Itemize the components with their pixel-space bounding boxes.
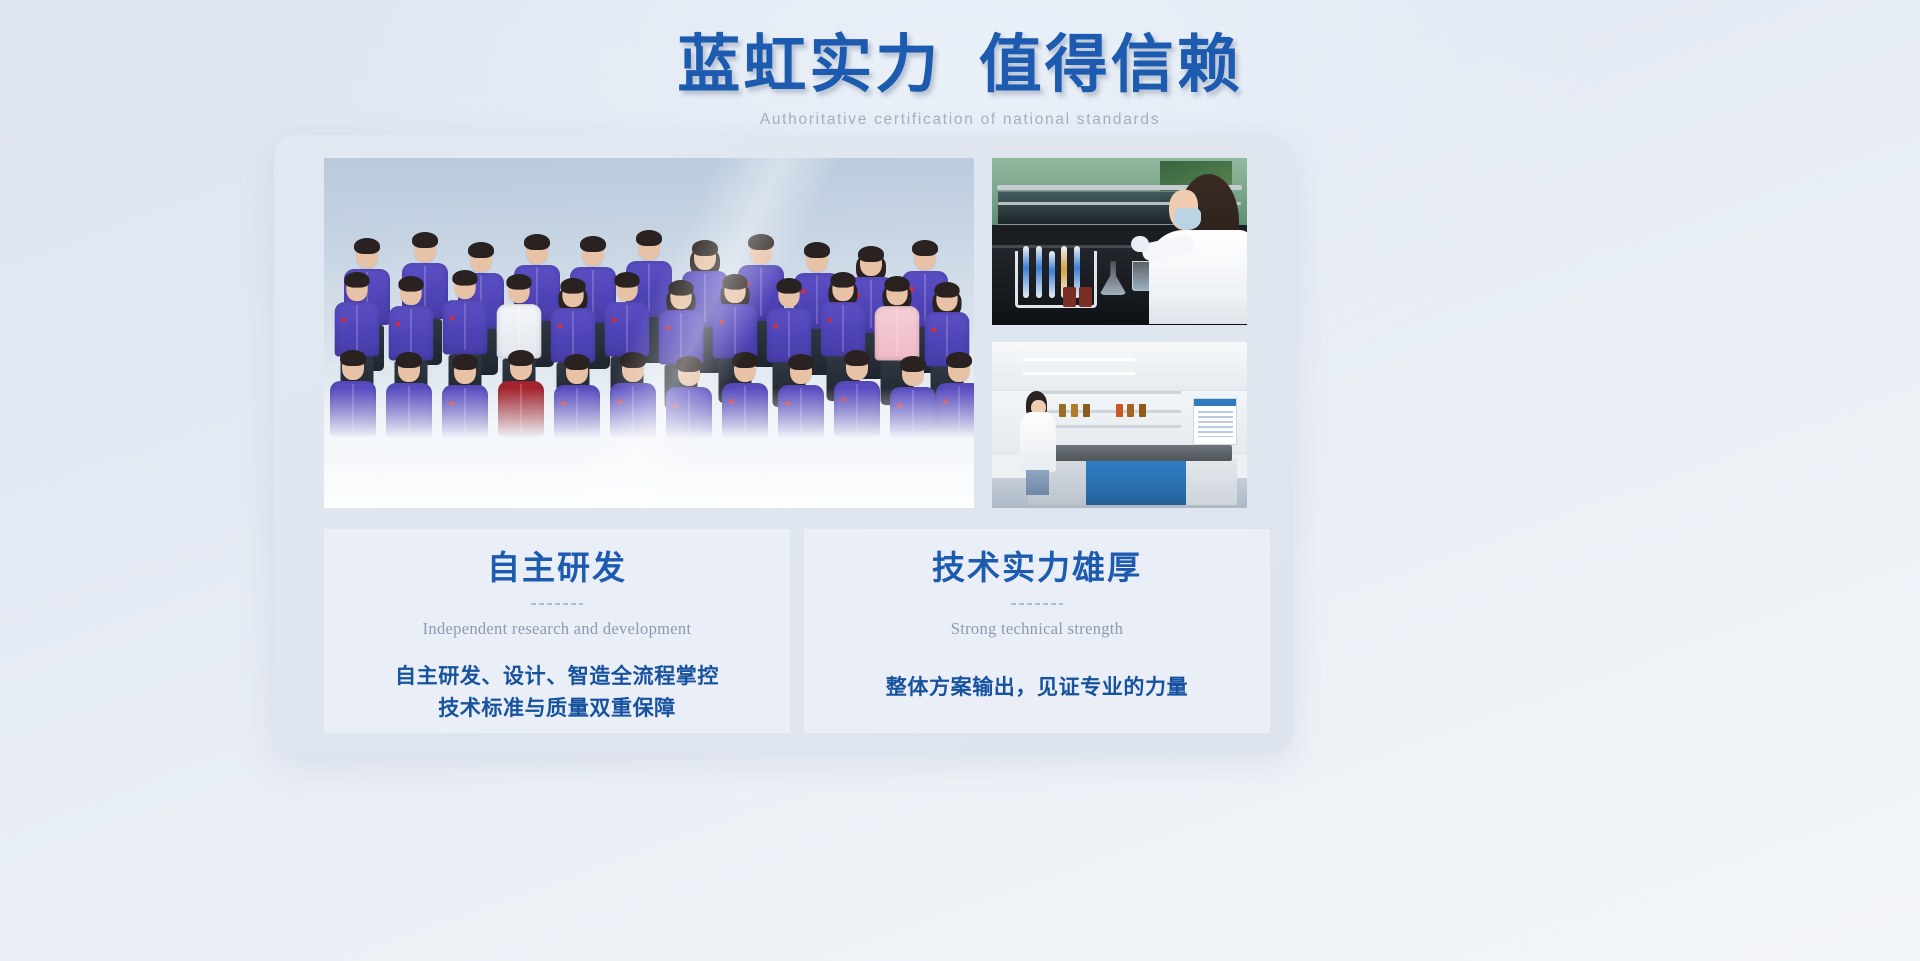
page-subtitle: Authoritative certification of national …	[0, 111, 1920, 129]
dashed-divider-icon	[531, 603, 583, 605]
gallery-row	[324, 158, 1270, 508]
ceiling-graphic	[992, 342, 1247, 392]
card-body-text: 整体方案输出，见证专业的力量	[804, 672, 1270, 704]
team-group-photo[interactable]	[324, 158, 974, 508]
page-title: 蓝虹实力 值得信赖	[0, 30, 1920, 101]
technician-figure	[1140, 171, 1247, 324]
safety-poster-graphic	[1193, 398, 1236, 445]
reagent-bottles-graphic	[1063, 285, 1097, 307]
feature-cards-row: 自主研发 Independent research and developmen…	[324, 529, 1270, 733]
side-cabinet-graphic	[1186, 458, 1237, 505]
card-title: 技术实力雄厚	[804, 550, 1270, 590]
content-panel: 自主研发 Independent research and developmen…	[274, 135, 1294, 753]
side-photo-column	[992, 158, 1247, 508]
lab-worker-figure	[1020, 391, 1056, 494]
card-subtitle: Strong technical strength	[804, 619, 1270, 639]
card-body-text: 自主研发、设计、智造全流程掌控 技术标准与质量双重保障	[324, 661, 790, 725]
laboratory-room-photo[interactable]	[992, 342, 1247, 509]
dashed-divider-icon	[1011, 603, 1063, 605]
feature-card-independent-rd[interactable]: 自主研发 Independent research and developmen…	[324, 529, 790, 733]
card-subtitle: Independent research and development	[324, 619, 790, 639]
lab-technician-photo[interactable]	[992, 158, 1247, 325]
card-title: 自主研发	[324, 550, 790, 590]
feature-card-technical-strength[interactable]: 技术实力雄厚 Strong technical strength 整体方案输出，…	[804, 529, 1270, 733]
page-header: 蓝虹实力 值得信赖 Authoritative certification of…	[0, 0, 1920, 129]
photo-sheen	[324, 158, 974, 508]
